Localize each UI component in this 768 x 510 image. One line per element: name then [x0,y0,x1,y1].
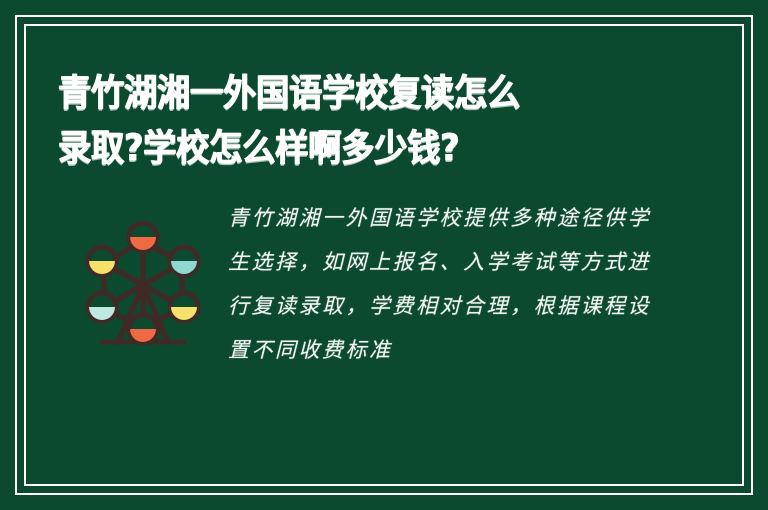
illustration-container [58,196,228,350]
ferris-cabin-lower-left [88,293,116,321]
ferris-cabin-upper-right [170,247,198,275]
ferris-wheel-icon [80,214,206,350]
body-paragraph: 青竹湖湘一外国语学校提供多种途径供学生选择，如网上报名、入学考试等方式进行复读录… [228,196,658,372]
ferris-cabin-lower-right [170,293,198,321]
poster-canvas: 青竹湖湘一外国语学校复读怎么 录取?学校怎么样啊多少钱? [0,0,768,510]
ferris-cabin-top [129,223,157,251]
content-row: 青竹湖湘一外国语学校提供多种途径供学生选择，如网上报名、入学考试等方式进行复读录… [58,196,710,372]
ferris-cabin-upper-left [88,247,116,275]
title-line-2: 录取?学校怎么样啊多少钱? [58,117,688,179]
ferris-cabin-bottom [129,315,157,343]
page-title: 青竹湖湘一外国语学校复读怎么 录取?学校怎么样啊多少钱? [58,62,688,172]
title-line-1: 青竹湖湘一外国语学校复读怎么 [58,62,688,124]
